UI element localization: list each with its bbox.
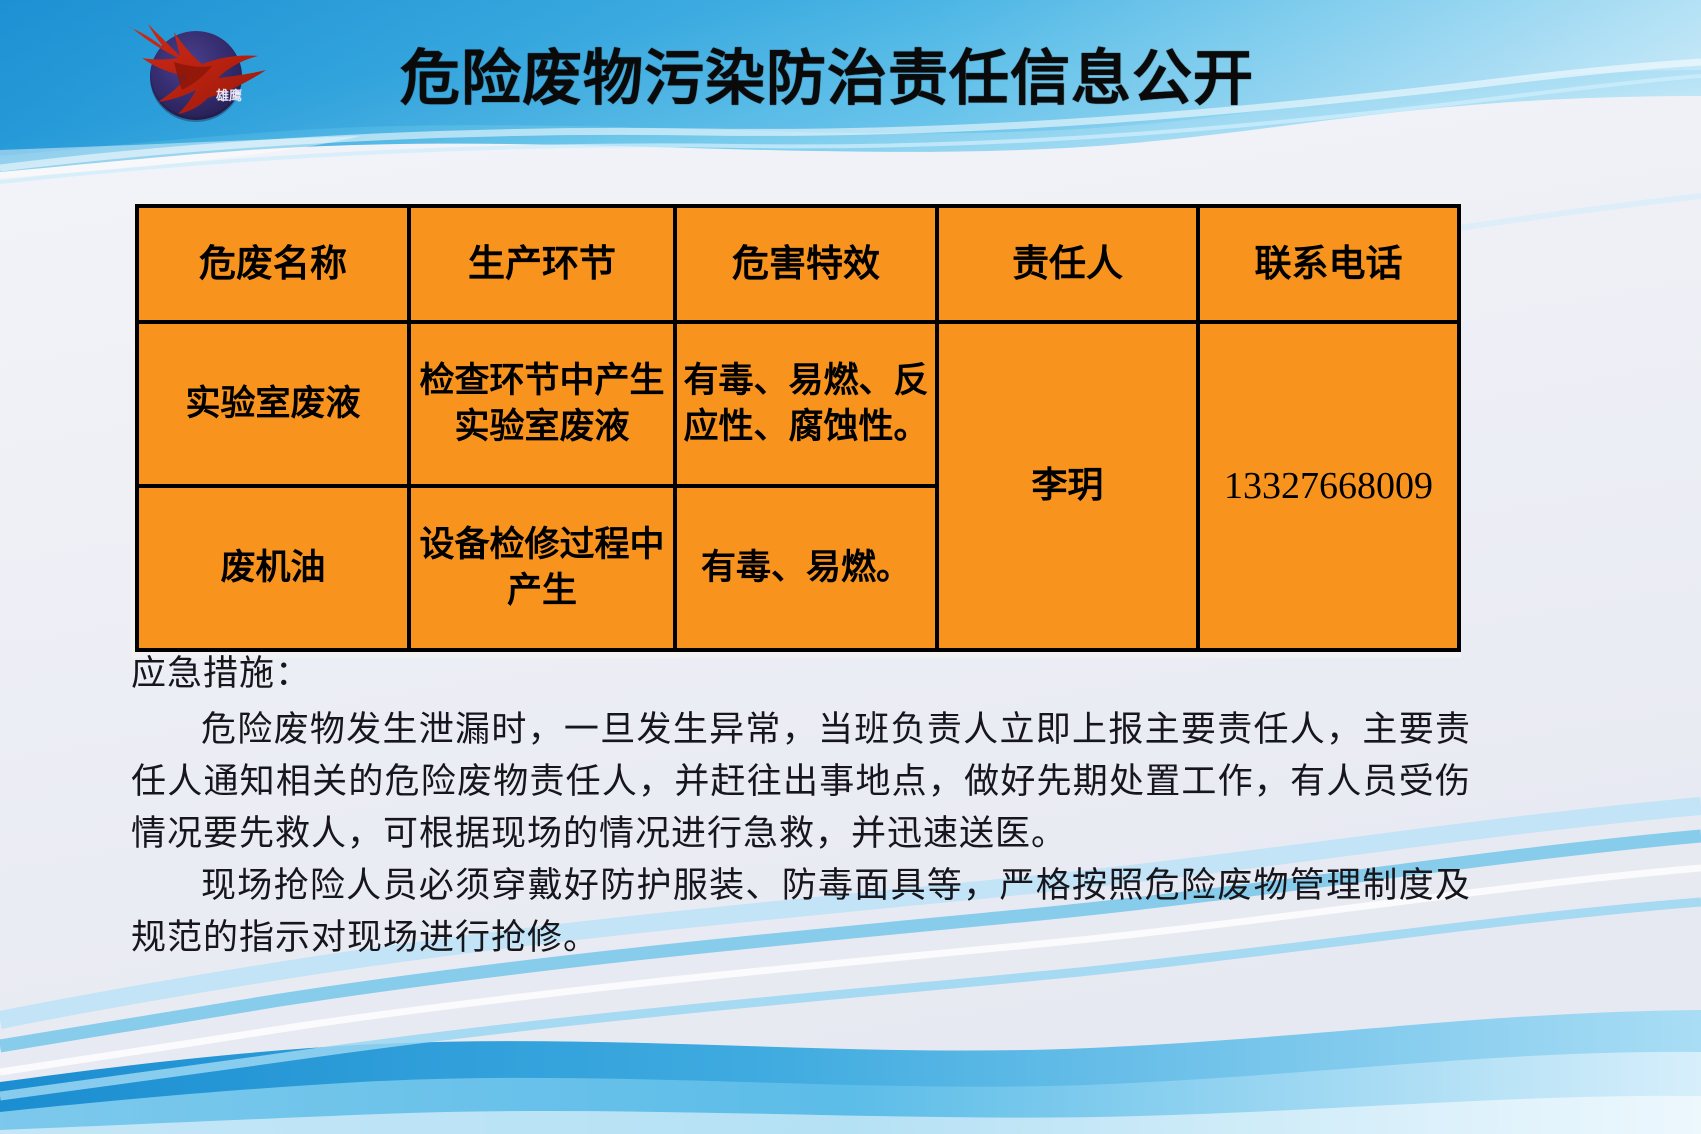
emergency-measures-heading: 应急措施： (131, 648, 1471, 700)
header-banner: 雄鹰 危险废物污染防治责任信息公开 (0, 0, 1701, 160)
eagle-logo: 雄鹰 (108, 14, 288, 134)
cell-stage-1: 检查环节中产生实验室废液 (409, 322, 675, 486)
emergency-measures-section: 应急措施： 危险废物发生泄漏时，一旦发生异常，当班负责人立即上报主要责任人，主要… (131, 648, 1471, 964)
column-header-responsible-person: 责任人 (937, 206, 1198, 322)
column-header-contact-phone: 联系电话 (1198, 206, 1459, 322)
emergency-paragraph-1: 危险废物发生泄漏时，一旦发生异常，当班负责人立即上报主要责任人，主要责任人通知相… (131, 704, 1471, 860)
logo-mark-text: 雄鹰 (215, 88, 242, 104)
cell-stage-2: 设备检修过程中产生 (409, 486, 675, 650)
table-header-row: 危废名称 生产环节 危害特效 责任人 联系电话 (137, 206, 1459, 322)
cell-hazard-2: 有毒、易燃。 (675, 486, 937, 650)
column-header-production-stage: 生产环节 (409, 206, 675, 322)
emergency-paragraph-2: 现场抢险人员必须穿戴好防护服装、防毒面具等，严格按照危险废物管理制度及规范的指示… (131, 860, 1471, 964)
cell-contact-phone: 13327668009 (1198, 322, 1459, 650)
slide-canvas: 雄鹰 危险废物污染防治责任信息公开 危废名称 生产环节 危害特效 责任人 联系电… (0, 0, 1701, 1134)
eagle-logo-svg: 雄鹰 (108, 14, 288, 134)
cell-responsible-person: 李玥 (937, 322, 1198, 650)
table-row: 实验室废液 检查环节中产生实验室废液 有毒、易燃、反应性、腐蚀性。 李玥 133… (137, 322, 1459, 486)
column-header-hazard-property: 危害特效 (675, 206, 937, 322)
hazardous-waste-table: 危废名称 生产环节 危害特效 责任人 联系电话 实验室废液 检查环节中产生实验室… (135, 204, 1461, 652)
cell-waste-name-2: 废机油 (137, 486, 409, 650)
page-title: 危险废物污染防治责任信息公开 (400, 46, 1280, 112)
cell-hazard-1: 有毒、易燃、反应性、腐蚀性。 (675, 322, 937, 486)
column-header-waste-name: 危废名称 (137, 206, 409, 322)
cell-waste-name-1: 实验室废液 (137, 322, 409, 486)
hazardous-waste-table-container: 危废名称 生产环节 危害特效 责任人 联系电话 实验室废液 检查环节中产生实验室… (131, 200, 1461, 658)
